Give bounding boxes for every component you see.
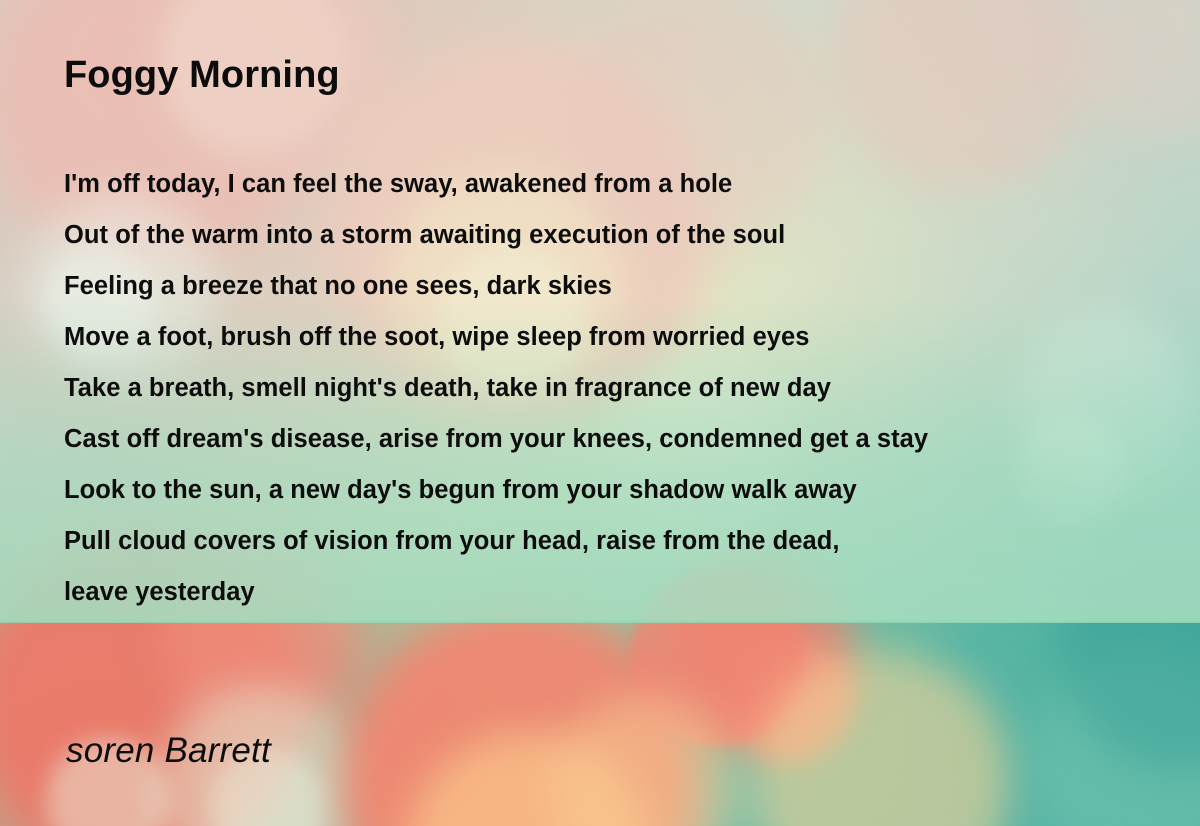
poem-line: Pull cloud covers of vision from your he… bbox=[64, 516, 1184, 567]
poem-line: Move a foot, brush off the soot, wipe sl… bbox=[64, 312, 1184, 363]
poem-line: Feeling a breeze that no one sees, dark … bbox=[64, 261, 1184, 312]
poem-body: I'm off today, I can feel the sway, awak… bbox=[64, 159, 1184, 618]
card-content: Foggy Morning I'm off today, I can feel … bbox=[0, 0, 1200, 826]
poem-line: Take a breath, smell night's death, take… bbox=[64, 363, 1184, 414]
poem-title: Foggy Morning bbox=[64, 54, 340, 97]
poem-line: Look to the sun, a new day's begun from … bbox=[64, 465, 1184, 516]
poem-line: Cast off dream's disease, arise from you… bbox=[64, 414, 1184, 465]
poem-line: I'm off today, I can feel the sway, awak… bbox=[64, 159, 1184, 210]
poem-line: leave yesterday bbox=[64, 567, 1184, 618]
poem-line: Out of the warm into a storm awaiting ex… bbox=[64, 210, 1184, 261]
poem-card: Foggy Morning I'm off today, I can feel … bbox=[0, 0, 1200, 826]
poem-author: soren Barrett bbox=[66, 731, 271, 771]
